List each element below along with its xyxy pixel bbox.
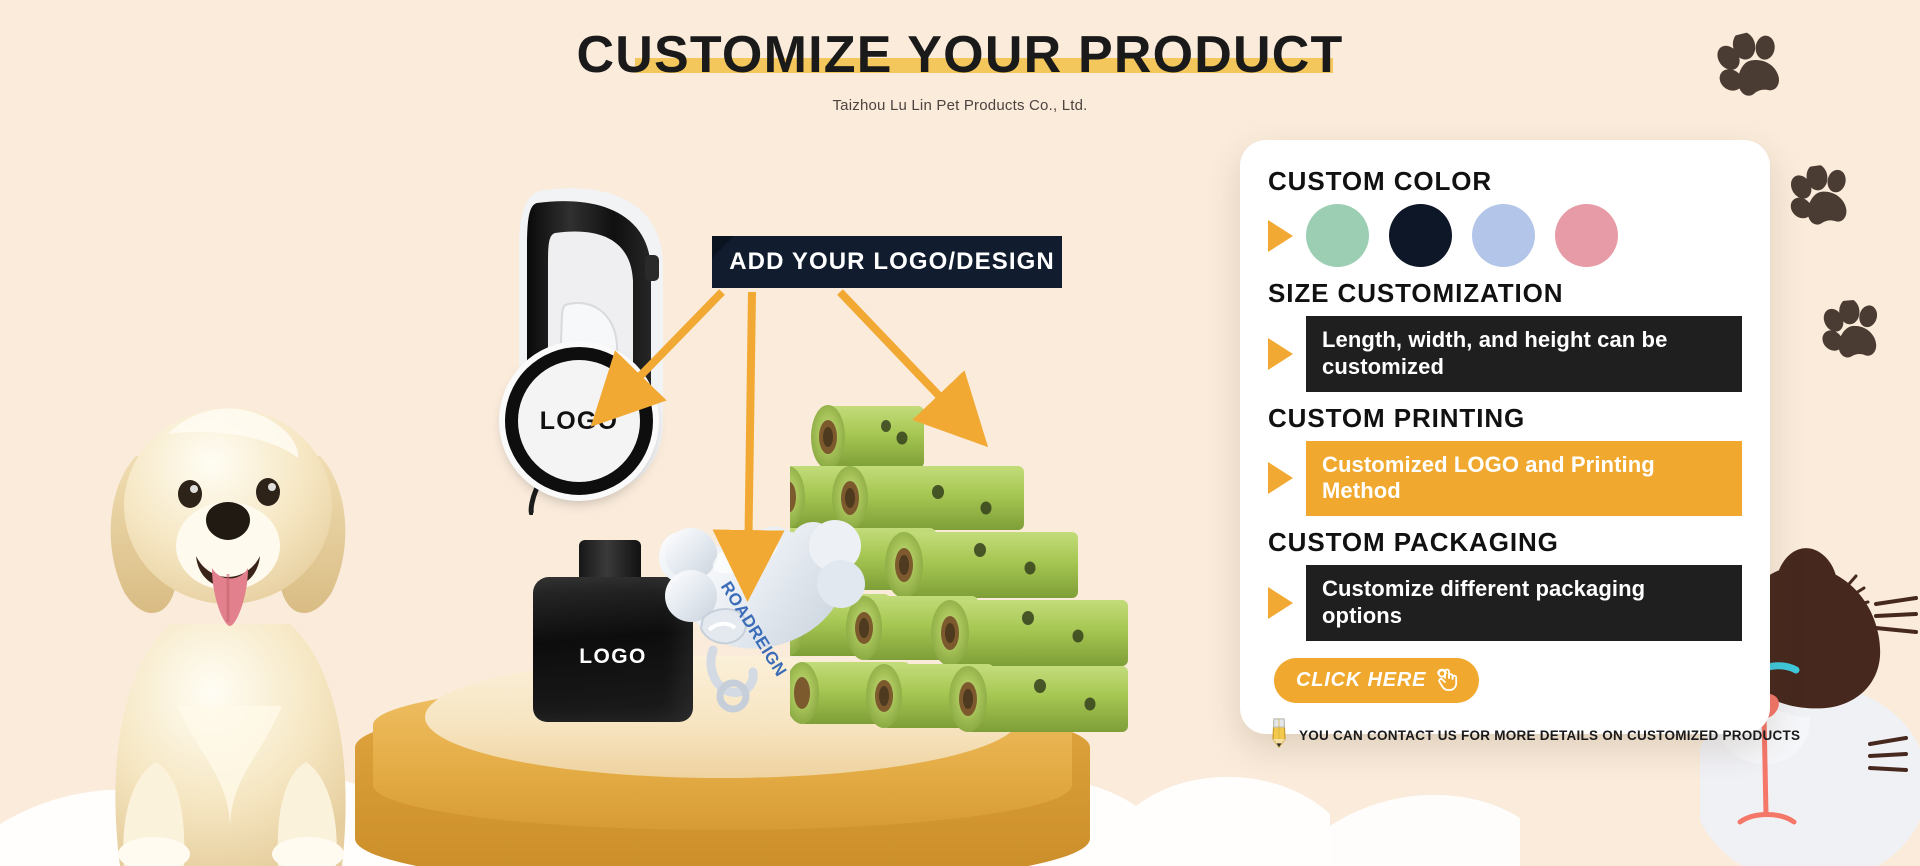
hand-pointer-icon	[1434, 665, 1462, 696]
color-swatch-group	[1306, 204, 1618, 267]
size-customization-row: Length, width, and height can be customi…	[1268, 316, 1742, 392]
custom-printing-text: Customized LOGO and Printing Method	[1306, 441, 1742, 517]
pencil-icon	[1270, 717, 1290, 754]
logo-disc: LOGO	[505, 347, 653, 495]
promo-banner-stage: CUSTOMIZE YOUR PRODUCT Taizhou Lu Lin Pe…	[0, 0, 1920, 866]
paw-print-icon	[1819, 297, 1891, 370]
triangle-bullet-icon	[1268, 587, 1293, 619]
triangle-bullet-icon	[1268, 220, 1293, 252]
section-heading-custom-printing: CUSTOM PRINTING	[1268, 403, 1742, 434]
add-logo-banner-label: ADD YOUR LOGO/DESIGN	[712, 236, 1062, 288]
header: CUSTOMIZE YOUR PRODUCT Taizhou Lu Lin Pe…	[0, 28, 1920, 114]
cat-whisker-accent	[1870, 596, 1920, 640]
customization-options-card: CUSTOM COLOR SIZE CUSTOMIZATION Length, …	[1240, 140, 1770, 734]
page-title-wrap: CUSTOMIZE YOUR PRODUCT	[571, 28, 1350, 83]
color-swatch-navy[interactable]	[1389, 204, 1452, 267]
section-heading-custom-color: CUSTOM COLOR	[1268, 166, 1742, 197]
click-here-button[interactable]: CLICK HERE	[1274, 658, 1479, 703]
bone-shape	[655, 510, 880, 725]
company-subtitle: Taizhou Lu Lin Pet Products Co., Ltd.	[0, 97, 1920, 114]
bone-dispenser-product: ROADREIGN	[655, 510, 880, 725]
click-here-label: CLICK HERE	[1296, 669, 1426, 692]
custom-printing-row: Customized LOGO and Printing Method	[1268, 441, 1742, 517]
section-heading-size-customization: SIZE CUSTOMIZATION	[1268, 278, 1742, 309]
color-swatch-periwinkle[interactable]	[1472, 204, 1535, 267]
triangle-bullet-icon	[1268, 338, 1293, 370]
disc-logo-text: LOGO	[540, 407, 618, 436]
color-swatch-rose[interactable]	[1555, 204, 1618, 267]
contact-note-text: YOU CAN CONTACT US FOR MORE DETAILS ON C…	[1299, 728, 1800, 743]
page-title: CUSTOMIZE YOUR PRODUCT	[577, 28, 1344, 83]
triangle-bullet-icon	[1268, 462, 1293, 494]
contact-note: YOU CAN CONTACT US FOR MORE DETAILS ON C…	[1270, 717, 1742, 754]
custom-packaging-text: Customize different packaging options	[1306, 565, 1742, 641]
custom-color-row	[1268, 204, 1742, 267]
custom-packaging-row: Customize different packaging options	[1268, 565, 1742, 641]
section-heading-custom-packaging: CUSTOM PACKAGING	[1268, 527, 1742, 558]
puppy-illustration	[28, 306, 428, 866]
paw-print-icon	[1785, 161, 1862, 240]
color-swatch-mint[interactable]	[1306, 204, 1369, 267]
size-customization-text: Length, width, and height can be customi…	[1306, 316, 1742, 392]
add-logo-banner: ADD YOUR LOGO/DESIGN	[712, 236, 1062, 288]
